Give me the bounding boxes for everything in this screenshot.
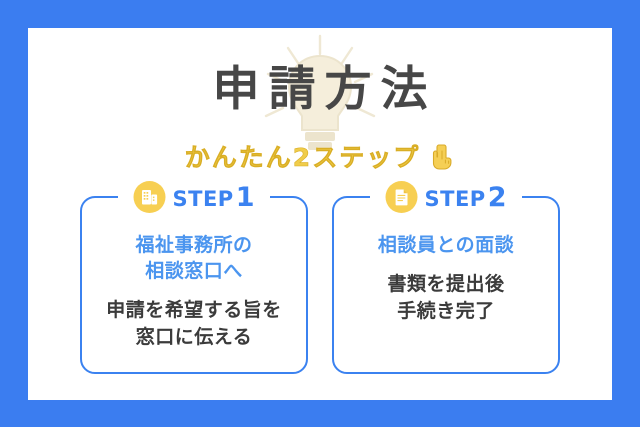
step-1-heading-line-1: 福祉事務所の	[82, 232, 306, 258]
step-1-text-line-2: 窓口に伝える	[82, 324, 306, 351]
step-1-heading: 福祉事務所の 相談窓口へ	[82, 232, 306, 284]
step-1-word: STEP	[173, 187, 234, 211]
step-2-text-line-2: 手続き完了	[334, 298, 558, 325]
content-panel: 申請方法 かんたん2ステップ	[28, 28, 612, 400]
infographic-frame: 申請方法 かんたん2ステップ	[0, 0, 640, 427]
step-2-body: 相談員との面談 書類を提出後 手続き完了	[334, 232, 558, 325]
building-icon	[134, 181, 166, 213]
step-2-header: STEP 2	[386, 181, 507, 213]
step-1-body: 福祉事務所の 相談窓口へ 申請を希望する旨を 窓口に伝える	[82, 232, 306, 351]
page-title: 申請方法	[28, 66, 612, 113]
step-card-1[interactable]: STEP 1 福祉事務所の 相談窓口へ 申請を希望する旨を 窓口に伝える	[80, 196, 308, 374]
page-subtitle: かんたん2ステップ	[185, 145, 420, 170]
step-2-text: 書類を提出後 手続き完了	[334, 271, 558, 325]
document-icon	[386, 181, 418, 213]
step-1-text: 申請を希望する旨を 窓口に伝える	[82, 297, 306, 351]
step-1-number: 1	[236, 184, 255, 211]
step-1-heading-line-2: 相談窓口へ	[82, 258, 306, 284]
step-card-2[interactable]: STEP 2 相談員との面談 書類を提出後 手続き完了	[332, 196, 560, 374]
step-1-header: STEP 1	[134, 181, 255, 213]
subtitle-row: かんたん2ステップ	[28, 143, 612, 171]
step-2-heading: 相談員との面談	[334, 232, 558, 258]
step-2-heading-line-1: 相談員との面談	[334, 232, 558, 258]
steps-container: STEP 1 福祉事務所の 相談窓口へ 申請を希望する旨を 窓口に伝える	[28, 196, 612, 374]
pointing-down-hand-icon	[429, 143, 455, 171]
step-2-text-line-1: 書類を提出後	[334, 271, 558, 298]
title-block: 申請方法 かんたん2ステップ	[28, 28, 612, 190]
step-2-number: 2	[488, 184, 507, 211]
step-1-label: STEP 1	[173, 184, 255, 211]
step-1-text-line-1: 申請を希望する旨を	[82, 297, 306, 324]
step-2-word: STEP	[425, 187, 486, 211]
step-2-label: STEP 2	[425, 184, 507, 211]
